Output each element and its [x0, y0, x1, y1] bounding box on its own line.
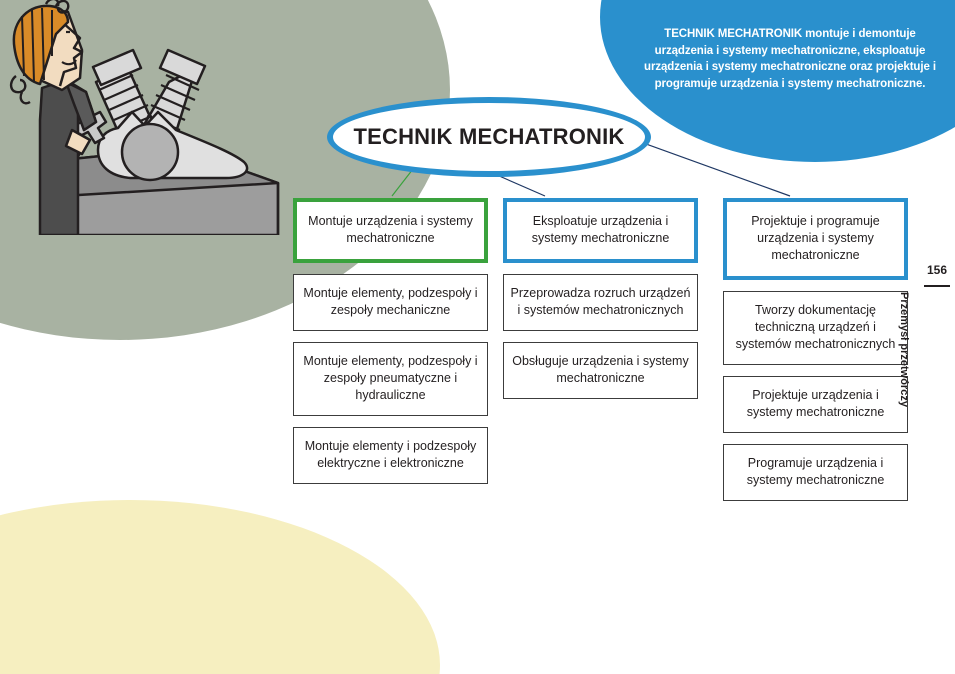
- sub-box-projektuje-2[interactable]: Projektuje urządzenia i systemy mechatro…: [723, 376, 908, 433]
- sub-box-montuje-3[interactable]: Montuje elementy i podzespoły elektryczn…: [293, 427, 488, 484]
- sub-box-montuje-1[interactable]: Montuje elementy, podzespoły i zespoły m…: [293, 274, 488, 331]
- page-number: 156: [922, 263, 952, 277]
- head-box-projektuje[interactable]: Projektuje i programuje urządzenia i sys…: [723, 198, 908, 280]
- head-box-montuje[interactable]: Montuje urządzenia i systemy mechatronic…: [293, 198, 488, 263]
- head-box-eksploatuje[interactable]: Eksploatuje urządzenia i systemy mechatr…: [503, 198, 698, 263]
- sub-box-projektuje-3[interactable]: Programuje urządzenia i systemy mechatro…: [723, 444, 908, 501]
- page-root: TECHNIK MECHATRONIK montuje i demontuje …: [0, 0, 955, 674]
- margin-divider: [924, 285, 950, 287]
- sub-box-montuje-2[interactable]: Montuje elementy, podzespoły i zespoły p…: [293, 342, 488, 416]
- sub-box-projektuje-1[interactable]: Tworzy dokumentację techniczną urządzeń …: [723, 291, 908, 365]
- section-label: Przemysł przetwórczy: [898, 292, 910, 412]
- column-eksploatuje: Eksploatuje urządzenia i systemy mechatr…: [503, 198, 698, 399]
- column-projektuje: Projektuje i programuje urządzenia i sys…: [723, 198, 908, 501]
- sub-box-eksploatuje-2[interactable]: Obsługuje urządzenia i systemy mechatron…: [503, 342, 698, 399]
- column-montuje: Montuje urządzenia i systemy mechatronic…: [293, 198, 488, 484]
- sub-box-eksploatuje-1[interactable]: Przeprowadza rozruch urządzeń i systemów…: [503, 274, 698, 331]
- diagram-columns: Montuje urządzenia i systemy mechatronic…: [0, 0, 955, 674]
